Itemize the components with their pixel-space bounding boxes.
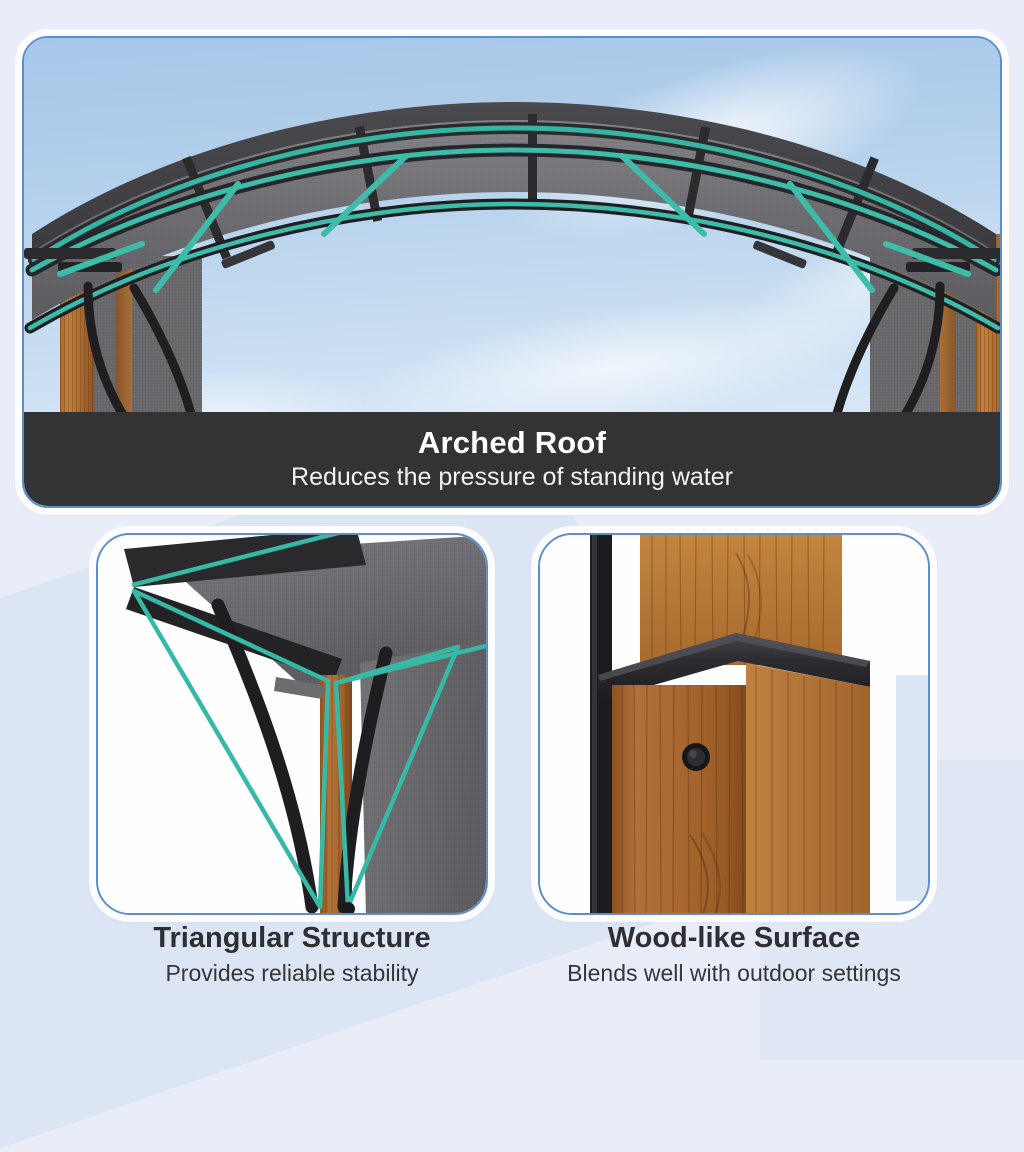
feature-title: Triangular Structure [96,922,488,955]
corner-detail-svg [98,535,488,915]
caption-triangular-structure: Triangular Structure Provides reliable s… [96,922,488,987]
background-accent [896,675,930,901]
post-front-face [612,685,746,915]
feature-panel-wood-like-surface [538,533,930,915]
feature-subtitle: Provides reliable stability [96,960,488,986]
feature-title: Arched Roof [418,427,606,460]
feature-panel-arched-roof: Arched Roof Reduces the pressure of stan… [22,36,1002,508]
caption-wood-like-surface: Wood-like Surface Blends well with outdo… [538,922,930,987]
post-side-face [746,663,870,915]
feature-panel-triangular-structure [96,533,488,915]
feature-subtitle: Reduces the pressure of standing water [291,464,733,492]
feature-subtitle: Blends well with outdoor settings [538,960,930,986]
mount-plates [221,240,808,269]
post-detail-svg [540,535,930,915]
corner-detail-scene [98,535,486,913]
caption-bar-arched-roof: Arched Roof Reduces the pressure of stan… [24,412,1000,506]
post-detail-scene [540,535,928,913]
feature-title: Wood-like Surface [538,922,930,955]
